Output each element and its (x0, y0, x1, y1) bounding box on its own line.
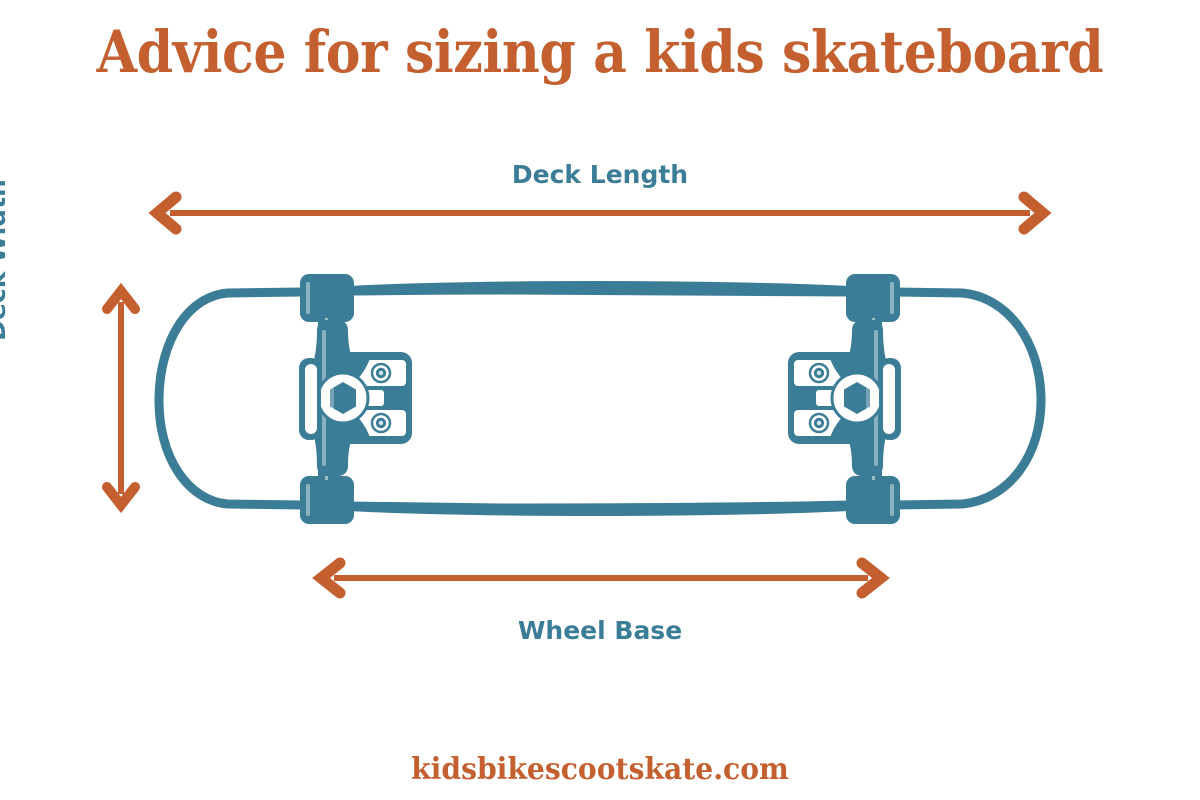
wheel-base-arrow (321, 563, 881, 593)
wheel-rear-top (300, 274, 354, 322)
rear-truck-group (299, 274, 412, 524)
diagram-canvas: Advice for sizing a kids skateboard Deck… (0, 0, 1200, 800)
skateboard-diagram-svg (0, 0, 1200, 800)
wheel-rear-bottom (300, 476, 354, 524)
site-url-footer: kidsbikescootskate.com (36, 752, 1164, 787)
deck-width-arrow (107, 291, 135, 505)
wheel-front-bottom (846, 476, 900, 524)
front-truck-group (788, 274, 901, 524)
deck-length-arrow (157, 197, 1043, 229)
front-pivot-cup (879, 358, 901, 440)
rear-pivot-cup (299, 358, 321, 440)
deck-outline (159, 290, 1041, 508)
deck-outline-group (159, 286, 1041, 512)
wheel-front-top (846, 274, 900, 322)
front-kingpin-nut (832, 373, 882, 423)
rear-kingpin-nut (318, 373, 368, 423)
